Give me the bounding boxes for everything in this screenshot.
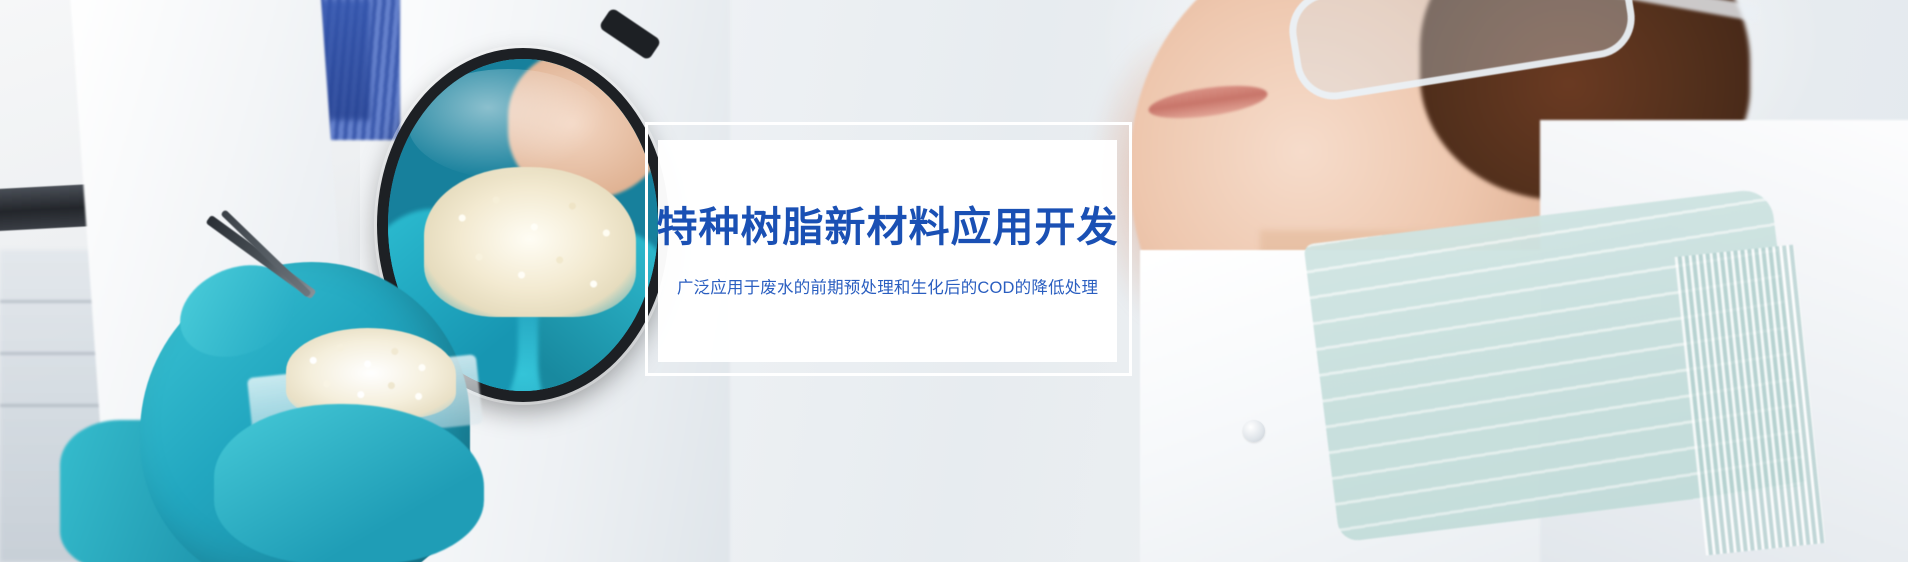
banner-headline: 特种树脂新材料应用开发	[657, 204, 1119, 251]
lens-glare	[408, 69, 608, 179]
lens-resin-granules	[424, 167, 636, 317]
resin-granules	[286, 328, 456, 418]
banner-subline: 广泛应用于废水的前期预处理和生化后的COD的降低处理	[677, 274, 1098, 298]
hero-banner: 特种树脂新材料应用开发 广泛应用于废水的前期预处理和生化后的COD的降低处理	[0, 0, 1908, 562]
text-panel: 特种树脂新材料应用开发 广泛应用于废水的前期预处理和生化后的COD的降低处理	[658, 140, 1117, 362]
coat-button	[1243, 420, 1265, 442]
